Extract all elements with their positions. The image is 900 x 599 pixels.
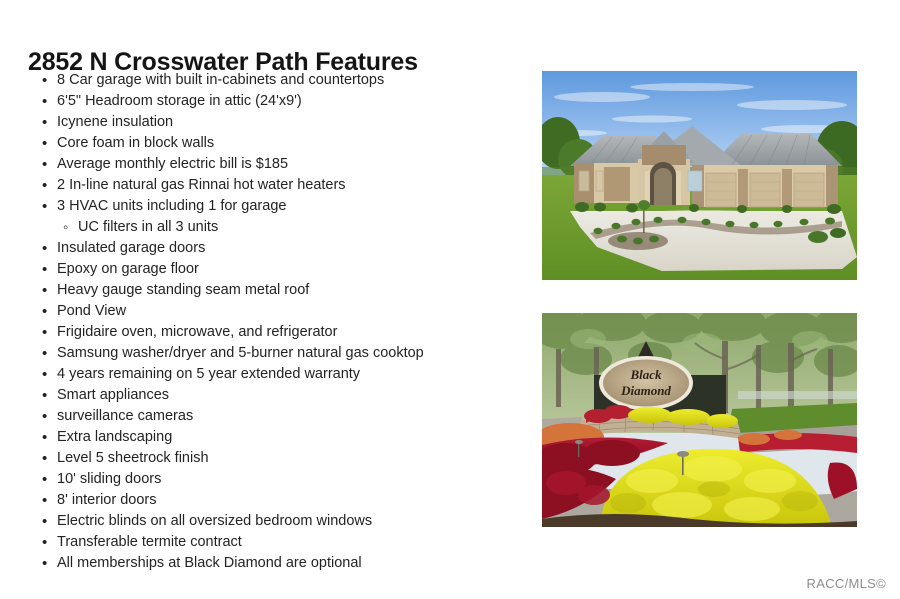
house-exterior-illustration — [542, 71, 857, 280]
photo-house-exterior — [542, 71, 857, 280]
feature-item: Pond View — [28, 301, 518, 322]
feature-item: Heavy gauge standing seam metal roof — [28, 280, 518, 301]
sign-text-line1: Black — [629, 367, 662, 382]
sign-text-line2: Diamond — [620, 383, 671, 398]
feature-item: 6'5" Headroom storage in attic (24'x9') — [28, 91, 518, 112]
feature-item: Electric blinds on all oversized bedroom… — [28, 511, 518, 532]
mls-watermark: RACC/MLS© — [807, 576, 886, 591]
photo-black-diamond-sign: Black Diamond — [542, 313, 857, 527]
feature-item: 8' interior doors — [28, 490, 518, 511]
feature-item: 4 years remaining on 5 year extended war… — [28, 364, 518, 385]
feature-item: Insulated garage doors — [28, 238, 518, 259]
feature-item: All memberships at Black Diamond are opt… — [28, 553, 518, 574]
feature-sub-item: UC filters in all 3 units — [28, 217, 518, 238]
flyer-page: 2852 N Crosswater Path Features 8 Car ga… — [0, 0, 900, 599]
feature-item: 10' sliding doors — [28, 469, 518, 490]
feature-item: 2 In-line natural gas Rinnai hot water h… — [28, 175, 518, 196]
black-diamond-entrance-illustration: Black Diamond — [542, 313, 857, 527]
feature-item: Samsung washer/dryer and 5-burner natura… — [28, 343, 518, 364]
feature-item: Smart appliances — [28, 385, 518, 406]
feature-item: Extra landscaping — [28, 427, 518, 448]
feature-item: Epoxy on garage floor — [28, 259, 518, 280]
feature-item: 3 HVAC units including 1 for garage — [28, 196, 518, 217]
feature-item: Average monthly electric bill is $185 — [28, 154, 518, 175]
feature-item: Level 5 sheetrock finish — [28, 448, 518, 469]
features-list: 8 Car garage with built in-cabinets and … — [28, 70, 518, 574]
feature-item: surveillance cameras — [28, 406, 518, 427]
feature-item: 8 Car garage with built in-cabinets and … — [28, 70, 518, 91]
feature-item: Frigidaire oven, microwave, and refriger… — [28, 322, 518, 343]
feature-item: Transferable termite contract — [28, 532, 518, 553]
feature-item: Core foam in block walls — [28, 133, 518, 154]
feature-item: Icynene insulation — [28, 112, 518, 133]
